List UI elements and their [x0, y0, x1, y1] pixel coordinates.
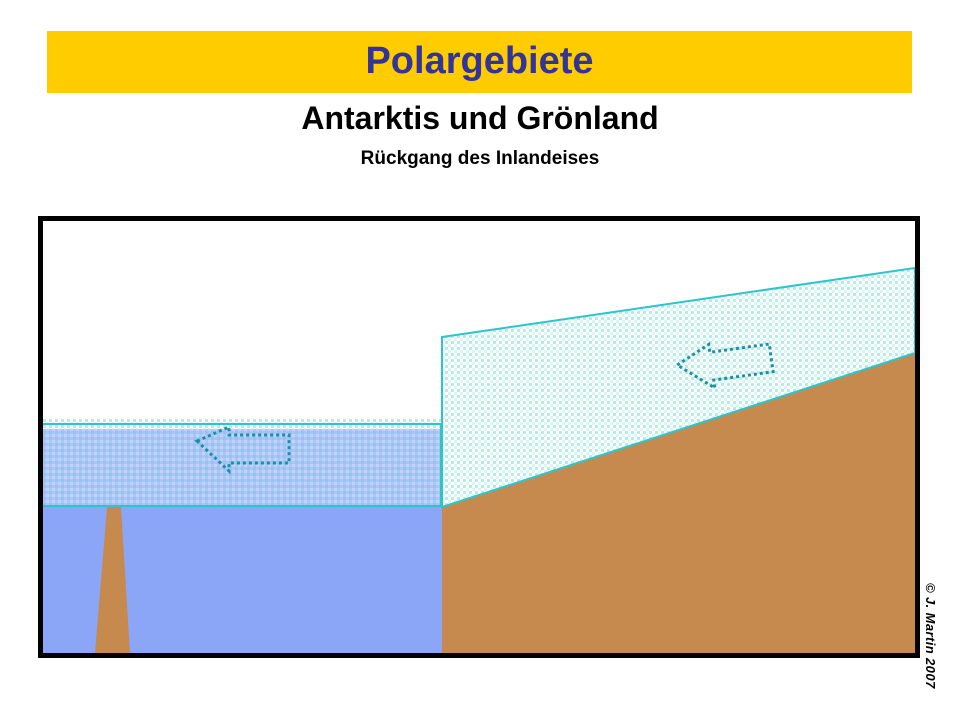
- title-banner: Polargebiete: [47, 31, 912, 93]
- copyright-notice: © J. Martin 2007: [920, 583, 938, 703]
- shelf-ice: [43, 419, 442, 507]
- diagram-frame: [38, 216, 920, 658]
- polar-cross-section-diagram: [43, 221, 915, 653]
- subtitle-secondary: Rückgang des Inlandeises: [0, 148, 960, 170]
- subtitle-primary: Antarktis und Grönland: [0, 100, 960, 137]
- page-title: Polargebiete: [47, 31, 912, 93]
- diagram-canvas: [43, 221, 915, 653]
- slide-root: Polargebiete Antarktis und Grönland Rück…: [0, 0, 960, 720]
